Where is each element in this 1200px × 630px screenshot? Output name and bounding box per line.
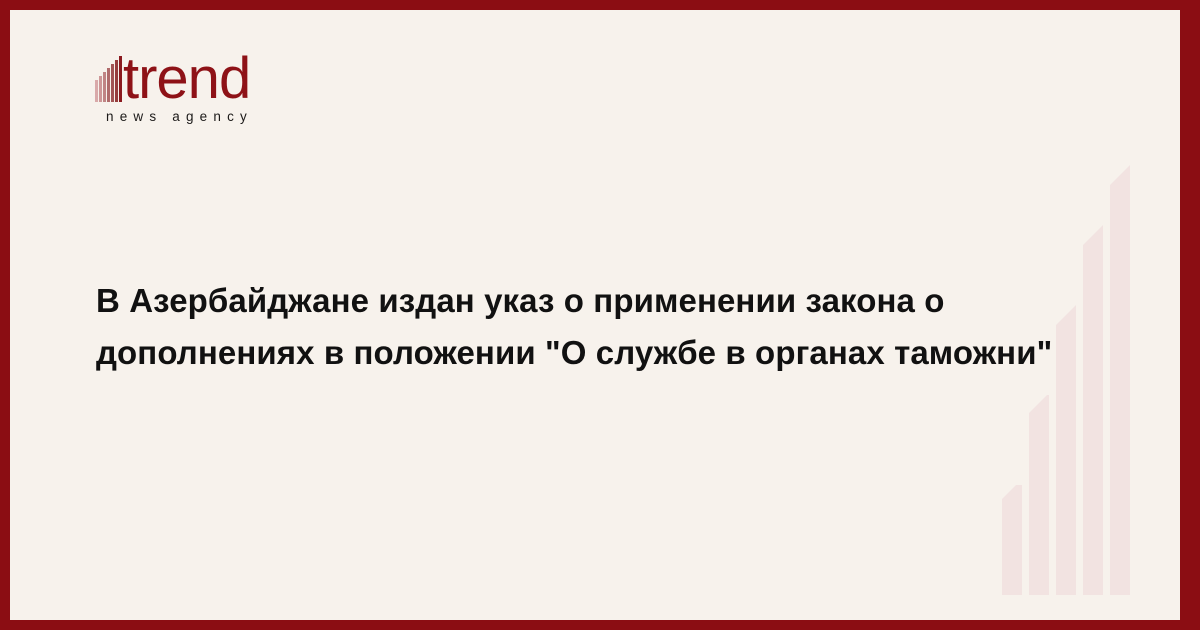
watermark-bar-2 — [1029, 395, 1049, 595]
logo-row: trend — [95, 45, 355, 103]
card-canvas: trend news agency В Азербайджане издан у… — [10, 10, 1180, 620]
watermark-bar-5 — [1110, 165, 1130, 595]
watermark-bar-1 — [1002, 485, 1022, 595]
trend-logo[interactable]: trend news agency — [95, 45, 355, 124]
ascending-bars-watermark — [1002, 165, 1167, 595]
page-title: В Азербайджане издан указ о применении з… — [96, 275, 1096, 379]
ascending-bars-mark-icon — [95, 56, 122, 103]
logo-tagline: news agency — [106, 109, 355, 124]
share-card: trend news agency В Азербайджане издан у… — [0, 0, 1200, 630]
logo-wordmark: trend — [123, 55, 250, 103]
